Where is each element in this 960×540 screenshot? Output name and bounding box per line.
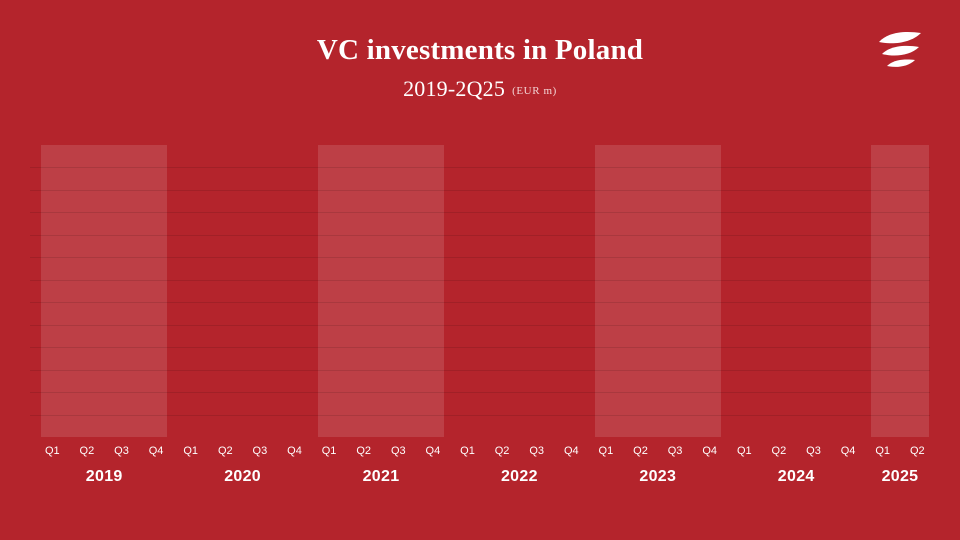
- slide-canvas: VC investments in Poland 2019-2Q25(EUR m…: [0, 0, 960, 540]
- quarter-label: Q2: [624, 445, 658, 457]
- quarter-label: Q2: [208, 445, 242, 457]
- quarter-label: Q3: [243, 445, 277, 457]
- quarter-label: Q4: [831, 445, 865, 457]
- gridline: [30, 415, 930, 416]
- chart-unit-label: (EUR m): [512, 85, 557, 97]
- quarter-label: Q4: [278, 445, 312, 457]
- year-label-2019: 2019: [35, 468, 173, 486]
- gridline: [30, 257, 930, 258]
- quarter-label: Q1: [451, 445, 485, 457]
- quarter-label: Q2: [485, 445, 519, 457]
- gridline: [30, 167, 930, 168]
- quarter-label: Q2: [347, 445, 381, 457]
- quarter-label: Q1: [312, 445, 346, 457]
- gridline: [30, 347, 930, 348]
- quarter-label: Q4: [139, 445, 173, 457]
- page-title: VC investments in Poland: [0, 33, 960, 67]
- year-label-2025: 2025: [865, 468, 934, 486]
- quarter-label: Q1: [35, 445, 69, 457]
- year-band-2025: [871, 145, 928, 437]
- plot-area: [30, 145, 930, 437]
- subtitle-row: 2019-2Q25(EUR m): [0, 76, 960, 102]
- year-label-2021: 2021: [312, 468, 450, 486]
- quarter-label: Q2: [70, 445, 104, 457]
- gridline: [30, 325, 930, 326]
- quarter-label: Q4: [416, 445, 450, 457]
- quarter-label: Q3: [520, 445, 554, 457]
- year-label-2022: 2022: [450, 468, 588, 486]
- quarter-label: Q3: [797, 445, 831, 457]
- quarter-label: Q3: [658, 445, 692, 457]
- quarter-label: Q1: [174, 445, 208, 457]
- chart-subtitle: 2019-2Q25: [403, 76, 505, 101]
- year-band-2021: [318, 145, 444, 437]
- year-label-2024: 2024: [727, 468, 865, 486]
- quarter-label: Q3: [381, 445, 415, 457]
- gridline: [30, 392, 930, 393]
- quarter-label: Q1: [866, 445, 900, 457]
- category-axis: Q1Q2Q3Q4Q1Q2Q3Q4Q1Q2Q3Q4Q1Q2Q3Q4Q1Q2Q3Q4…: [30, 437, 930, 497]
- gridline: [30, 212, 930, 213]
- chart-header: VC investments in Poland 2019-2Q25(EUR m…: [0, 0, 960, 120]
- year-label-2023: 2023: [589, 468, 727, 486]
- quarter-label: Q3: [105, 445, 139, 457]
- quarter-label: Q2: [900, 445, 934, 457]
- quarter-label: Q1: [727, 445, 761, 457]
- gridline: [30, 235, 930, 236]
- gridline: [30, 302, 930, 303]
- quarter-label: Q2: [762, 445, 796, 457]
- quarter-label: Q1: [589, 445, 623, 457]
- gridline: [30, 370, 930, 371]
- quarter-label: Q4: [693, 445, 727, 457]
- gridline: [30, 190, 930, 191]
- quarter-label: Q4: [554, 445, 588, 457]
- three-wave-stripes-logo: [877, 29, 923, 71]
- year-band-2019: [41, 145, 167, 437]
- year-label-2020: 2020: [173, 468, 311, 486]
- year-band-2023: [595, 145, 721, 437]
- gridline: [30, 280, 930, 281]
